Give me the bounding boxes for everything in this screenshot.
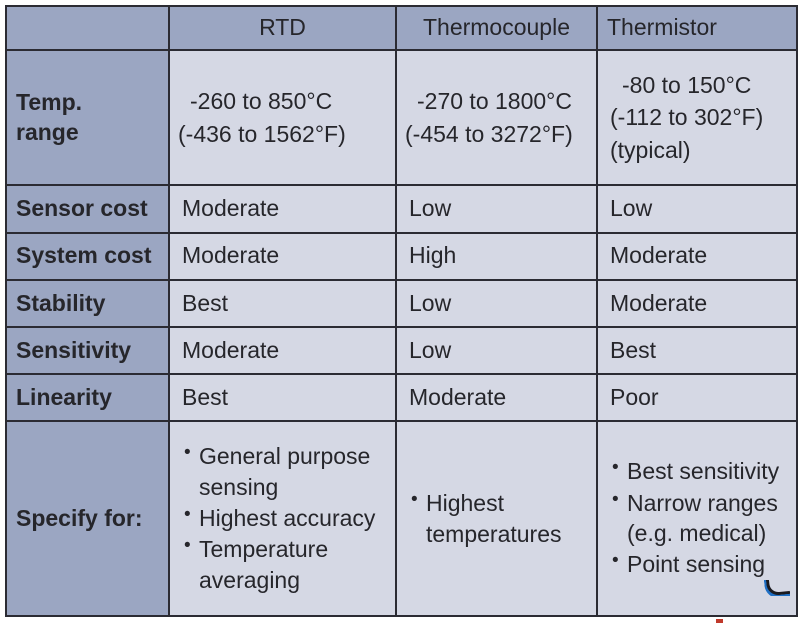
table-row-system-cost: System cost Moderate High Moderate — [6, 233, 797, 280]
list-item: Temperature averaging — [182, 534, 387, 595]
cell-linearity-thermistor: Poor — [597, 374, 797, 421]
temp-range-rtd-celsius: -260 to 850°C — [178, 85, 387, 118]
header-label-thermocouple: Thermocouple — [423, 14, 570, 40]
list-item: Highest accuracy — [182, 503, 387, 533]
cell-system-cost-thermistor: Moderate — [597, 233, 797, 280]
row-label-sensitivity: Sensitivity — [6, 327, 169, 374]
cell-linearity-rtd: Best — [169, 374, 396, 421]
cell-sensitivity-rtd: Moderate — [169, 327, 396, 374]
table-row-specify-for: Specify for: General purpose sensing Hig… — [6, 421, 797, 616]
header-cell-rtd: RTD — [169, 6, 396, 50]
list-item: Point sensing — [610, 549, 788, 579]
specify-rtd-bullet1-line2: sensing — [199, 472, 387, 502]
specify-thermistor-bullet2-line1: Narrow ranges — [627, 490, 778, 516]
header-label-rtd: RTD — [259, 14, 306, 40]
specify-thermistor-bullet2-line2: (e.g. medical) — [627, 518, 788, 548]
temp-range-thermocouple-celsius: -270 to 1800°C — [405, 85, 588, 118]
specify-rtd-bullet3-line1: Temperature — [199, 536, 328, 562]
cell-specify-for-rtd: General purpose sensing Highest accuracy… — [169, 421, 396, 616]
cell-sensitivity-thermocouple: Low — [396, 327, 597, 374]
row-label-temp-range-line2: range — [16, 118, 160, 147]
header-cell-thermocouple: Thermocouple — [396, 6, 597, 50]
sensor-comparison-table: RTD Thermocouple Thermistor Temp. range … — [5, 5, 798, 617]
list-item: General purpose sensing — [182, 441, 387, 502]
specify-list-thermistor: Best sensitivity Narrow ranges (e.g. med… — [610, 456, 788, 579]
specify-thermistor-bullet1-line1: Best sensitivity — [627, 458, 779, 484]
cell-temp-range-thermistor: -80 to 150°C (-112 to 302°F) (typical) — [597, 50, 797, 185]
temp-range-thermocouple-block: -270 to 1800°C (-454 to 3272°F) — [405, 85, 588, 150]
temp-range-thermocouple-fahrenheit: (-454 to 3272°F) — [405, 118, 588, 151]
cell-stability-rtd: Best — [169, 280, 396, 327]
specify-list-thermocouple: Highest temperatures — [409, 488, 588, 549]
header-cell-thermistor: Thermistor — [597, 6, 797, 50]
table-row-temp-range: Temp. range -260 to 850°C (-436 to 1562°… — [6, 50, 797, 185]
cell-sensor-cost-rtd: Moderate — [169, 185, 396, 232]
cell-stability-thermistor: Moderate — [597, 280, 797, 327]
list-item: Narrow ranges (e.g. medical) — [610, 488, 788, 549]
specify-thermocouple-bullet1-line2: temperatures — [409, 519, 588, 549]
row-label-specify-for: Specify for: — [6, 421, 169, 616]
header-label-thermistor: Thermistor — [607, 14, 717, 40]
cell-stability-thermocouple: Low — [396, 280, 597, 327]
temp-range-thermistor-fahrenheit: (-112 to 302°F) — [610, 101, 788, 134]
row-label-system-cost: System cost — [6, 233, 169, 280]
cell-specify-for-thermistor: Best sensitivity Narrow ranges (e.g. med… — [597, 421, 797, 616]
temp-range-rtd-block: -260 to 850°C (-436 to 1562°F) — [178, 85, 387, 150]
specify-rtd-bullet1-line1: General purpose — [199, 443, 370, 469]
row-label-linearity: Linearity — [6, 374, 169, 421]
table-row-sensor-cost: Sensor cost Moderate Low Low — [6, 185, 797, 232]
cell-specify-for-thermocouple: Highest temperatures — [396, 421, 597, 616]
header-cell-blank — [6, 6, 169, 50]
cell-system-cost-thermocouple: High — [396, 233, 597, 280]
table-row-linearity: Linearity Best Moderate Poor — [6, 374, 797, 421]
row-label-stability: Stability — [6, 280, 169, 327]
row-label-temp-range-line1: Temp. — [16, 88, 160, 117]
list-item: Best sensitivity — [610, 456, 788, 486]
page-edge-speck — [716, 619, 723, 623]
cell-sensor-cost-thermistor: Low — [597, 185, 797, 232]
row-label-sensor-cost: Sensor cost — [6, 185, 169, 232]
temp-range-thermistor-note: (typical) — [610, 134, 788, 167]
cell-sensor-cost-thermocouple: Low — [396, 185, 597, 232]
temp-range-rtd-fahrenheit: (-436 to 1562°F) — [178, 118, 387, 151]
cell-temp-range-thermocouple: -270 to 1800°C (-454 to 3272°F) — [396, 50, 597, 185]
cell-system-cost-rtd: Moderate — [169, 233, 396, 280]
table-row-sensitivity: Sensitivity Moderate Low Best — [6, 327, 797, 374]
row-label-temp-range: Temp. range — [6, 50, 169, 185]
specify-list-rtd: General purpose sensing Highest accuracy… — [182, 441, 387, 595]
cell-temp-range-rtd: -260 to 850°C (-436 to 1562°F) — [169, 50, 396, 185]
cell-sensitivity-thermistor: Best — [597, 327, 797, 374]
table-header-row: RTD Thermocouple Thermistor — [6, 6, 797, 50]
cell-linearity-thermocouple: Moderate — [396, 374, 597, 421]
specify-thermistor-bullet3-line1: Point sensing — [627, 551, 765, 577]
specify-thermocouple-bullet1-line1: Highest — [409, 488, 588, 518]
temp-range-thermistor-block: -80 to 150°C (-112 to 302°F) (typical) — [610, 69, 788, 167]
temp-range-thermistor-celsius: -80 to 150°C — [610, 69, 788, 102]
specify-rtd-bullet3-line2: averaging — [199, 565, 387, 595]
specify-rtd-bullet2-line1: Highest accuracy — [199, 505, 375, 531]
table-row-stability: Stability Best Low Moderate — [6, 280, 797, 327]
